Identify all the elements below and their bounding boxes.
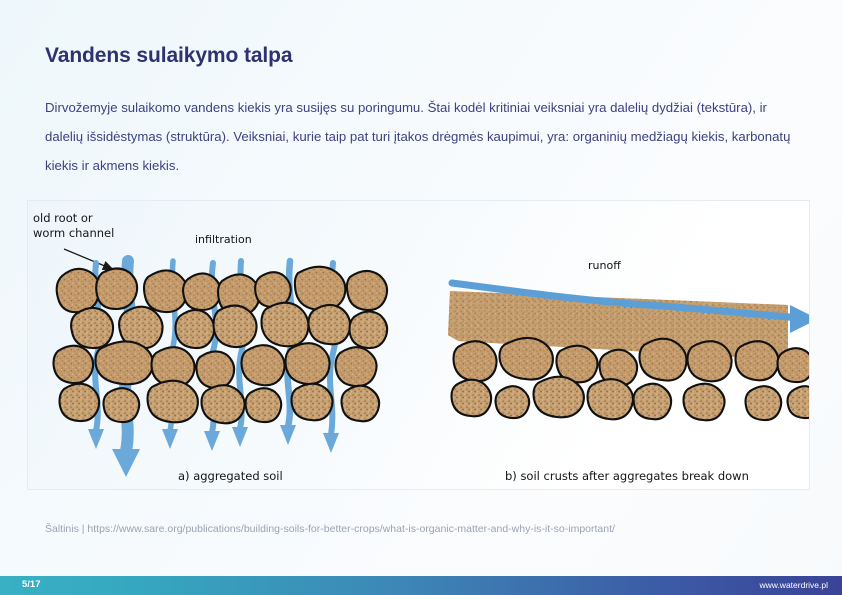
page-title: Vandens sulaikymo talpa (45, 44, 292, 68)
runoff-arrowhead (790, 305, 810, 333)
old-root-label-line2: worm channel (33, 226, 114, 240)
runoff-label: runoff (588, 259, 621, 272)
body-paragraph: Dirvožemyje sulaikomo vandens kiekis yra… (45, 93, 805, 180)
old-root-label: old root or worm channel (33, 211, 114, 241)
footer-url: www.waterdrive.pl (760, 580, 829, 590)
infiltration-label: infiltration (195, 233, 252, 246)
aggregated-soil-group (54, 249, 388, 477)
slide-number: 5/17 (22, 579, 41, 590)
soil-diagram-panel: old root or worm channel infiltration ru… (27, 200, 810, 490)
footer-bar: 5/17 www.waterdrive.pl (0, 576, 842, 595)
caption-aggregated-soil: a) aggregated soil (178, 469, 283, 483)
slide: Vandens sulaikymo talpa Dirvožemyje sula… (0, 0, 842, 595)
soil-diagram-svg (28, 201, 810, 490)
soil-crust-group (448, 283, 810, 420)
old-root-pointer-arrow (64, 249, 112, 269)
source-citation: Šaltinis | https://www.sare.org/publicat… (45, 523, 615, 535)
caption-soil-crusts: b) soil crusts after aggregates break do… (505, 469, 749, 483)
old-root-label-line1: old root or (33, 211, 93, 225)
